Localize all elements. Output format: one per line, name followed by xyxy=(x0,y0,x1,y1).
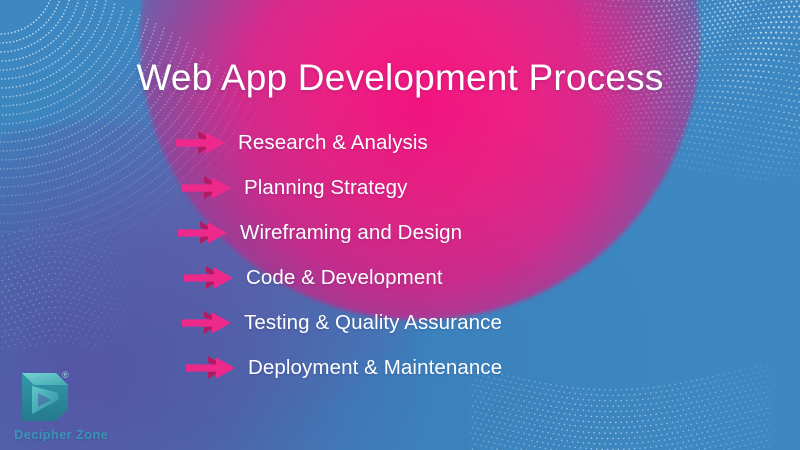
brand-name-label: Decipher Zone xyxy=(14,427,126,442)
list-item[interactable]: Planning Strategy xyxy=(176,165,736,210)
list-item-label: Deployment & Maintenance xyxy=(248,356,502,380)
arrow-right-icon xyxy=(176,175,244,201)
list-item-label: Wireframing and Design xyxy=(240,221,462,245)
arrow-right-icon xyxy=(176,310,244,336)
registered-trademark-icon: ® xyxy=(62,371,69,380)
arrow-right-icon xyxy=(176,220,240,246)
arrow-right-icon xyxy=(176,130,238,156)
list-item[interactable]: Wireframing and Design xyxy=(176,210,736,255)
decipher-zone-d-mark-icon: ® xyxy=(16,369,80,425)
list-item[interactable]: Testing & Quality Assurance xyxy=(176,300,736,345)
arrow-right-icon xyxy=(176,355,248,381)
list-item-label: Testing & Quality Assurance xyxy=(244,311,502,335)
brand-logo[interactable]: ® Decipher Zone xyxy=(8,369,126,442)
page-title: Web App Development Process xyxy=(0,57,800,100)
list-item-label: Code & Development xyxy=(246,266,443,290)
list-item[interactable]: Deployment & Maintenance xyxy=(176,345,736,390)
list-item-label: Research & Analysis xyxy=(238,131,428,155)
arrow-right-icon xyxy=(176,265,246,291)
list-item[interactable]: Research & Analysis xyxy=(176,120,736,165)
list-item[interactable]: Code & Development xyxy=(176,255,736,300)
slide-canvas: Web App Development Process Research & A… xyxy=(0,0,800,450)
list-item-label: Planning Strategy xyxy=(244,176,408,200)
process-step-list: Research & Analysis Planning Strategy Wi… xyxy=(176,120,736,390)
